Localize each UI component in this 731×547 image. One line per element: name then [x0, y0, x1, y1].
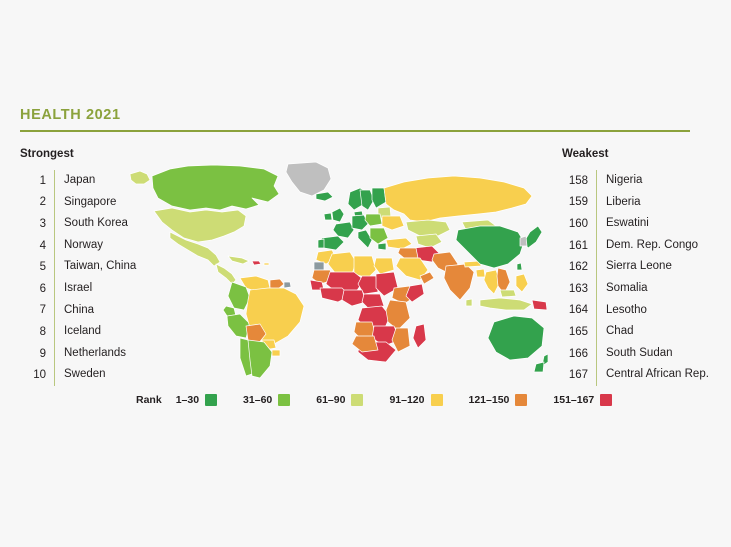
legend-item[interactable]: 121–150	[469, 394, 528, 406]
country-france	[333, 222, 354, 238]
country-namibia-botswana	[352, 336, 378, 352]
rank-number: 159	[562, 196, 596, 208]
rank-number: 10	[20, 369, 54, 381]
weakest-ranking-list: 158Nigeria159Liberia160Eswatini161Dem. R…	[562, 170, 731, 386]
country-taiwan	[517, 263, 522, 270]
country-kenya-tanzania	[386, 300, 410, 330]
rank-row: 166South Sudan	[562, 343, 731, 365]
legend-item[interactable]: 91–120	[389, 394, 442, 406]
legend-item[interactable]: 151–167	[553, 394, 612, 406]
rank-number: 3	[20, 218, 54, 230]
rank-number: 8	[20, 326, 54, 338]
legend-item-label: 121–150	[469, 394, 510, 406]
rank-number: 5	[20, 261, 54, 273]
country-turkey	[386, 238, 412, 249]
rank-number: 160	[562, 218, 596, 230]
rank-country-name: Liberia	[596, 192, 731, 214]
country-hispaniola	[252, 261, 261, 265]
country-new-zealand-south	[534, 362, 544, 372]
rank-number: 9	[20, 348, 54, 360]
country-korea	[520, 236, 527, 246]
country-uk	[332, 208, 344, 222]
rank-country-name: Central African Rep.	[596, 364, 731, 386]
rank-number: 163	[562, 283, 596, 295]
rank-row: 162Sierra Leone	[562, 256, 731, 278]
country-greenland	[286, 162, 331, 196]
rank-number: 165	[562, 326, 596, 338]
legend-color-swatch	[278, 394, 290, 406]
country-french-guiana	[284, 282, 291, 288]
country-iraq-syria	[398, 248, 418, 258]
rank-number: 166	[562, 348, 596, 360]
legend-color-swatch	[515, 394, 527, 406]
country-egypt	[374, 258, 394, 274]
country-algeria	[328, 252, 356, 274]
legend-title: Rank	[136, 394, 162, 406]
country-uruguay	[272, 350, 280, 356]
rank-row: 165Chad	[562, 321, 731, 343]
country-russia	[384, 176, 532, 222]
rank-number: 7	[20, 304, 54, 316]
legend-item-label: 61–90	[316, 394, 345, 406]
country-iceland	[316, 192, 333, 201]
country-nigeria	[342, 290, 366, 306]
country-png	[532, 300, 547, 310]
country-philippines	[516, 274, 528, 292]
rank-number: 167	[562, 369, 596, 381]
legend-color-swatch	[351, 394, 363, 406]
map-legend: Rank 1–3031–6061–9091–120121–150151–167	[136, 394, 612, 406]
rank-number: 6	[20, 283, 54, 295]
rank-country-name: Sierra Leone	[596, 256, 731, 278]
country-ukraine	[382, 216, 404, 230]
legend-color-swatch	[205, 394, 217, 406]
legend-item-label: 151–167	[553, 394, 594, 406]
rank-number: 164	[562, 304, 596, 316]
strongest-heading: Strongest	[20, 148, 74, 160]
rank-number: 1	[20, 175, 54, 187]
legend-item-label: 1–30	[176, 394, 199, 406]
country-madagascar	[413, 324, 426, 348]
rank-row: 158Nigeria	[562, 170, 731, 192]
country-malaysia	[500, 290, 516, 297]
country-australia	[488, 316, 544, 360]
page-title: HEALTH 2021	[20, 107, 121, 123]
country-alaska	[130, 171, 150, 184]
legend-item-label: 91–120	[389, 394, 424, 406]
rank-number: 162	[562, 261, 596, 273]
rank-row: 164Lesotho	[562, 300, 731, 322]
country-balkans	[370, 228, 388, 244]
country-canada	[152, 165, 279, 210]
rank-country-name: Somalia	[596, 278, 731, 300]
rank-row: 167Central African Rep.	[562, 364, 731, 386]
legend-color-swatch	[431, 394, 443, 406]
country-kazakhstan	[406, 220, 450, 236]
rank-country-name: Lesotho	[596, 300, 731, 322]
rank-country-name: Eswatini	[596, 213, 731, 235]
rank-country-name: South Sudan	[596, 343, 731, 365]
rank-country-name: Chad	[596, 321, 731, 343]
country-sri-lanka	[466, 299, 472, 306]
country-finland	[372, 188, 386, 208]
legend-color-swatch	[600, 394, 612, 406]
country-usa	[154, 208, 246, 242]
rank-row: 163Somalia	[562, 278, 731, 300]
country-cuba	[228, 256, 249, 264]
country-mozambique	[392, 328, 410, 352]
country-greece	[378, 243, 386, 250]
rank-row: 160Eswatini	[562, 213, 731, 235]
rank-row: 161Dem. Rep. Congo	[562, 235, 731, 257]
legend-item[interactable]: 61–90	[316, 394, 363, 406]
country-guyana-suriname	[270, 279, 284, 289]
country-western-sahara	[314, 262, 324, 270]
country-indonesia	[480, 298, 532, 310]
rank-country-name: Nigeria	[596, 170, 731, 192]
country-central-america	[216, 264, 236, 284]
weakest-heading: Weakest	[562, 148, 608, 160]
rank-number: 2	[20, 196, 54, 208]
country-india	[444, 264, 474, 300]
title-divider	[20, 130, 690, 132]
rank-row: 159Liberia	[562, 192, 731, 214]
rank-number: 4	[20, 240, 54, 252]
legend-item[interactable]: 31–60	[243, 394, 290, 406]
country-puerto-rico	[264, 263, 269, 265]
legend-item[interactable]: 1–30	[176, 394, 217, 406]
rank-number: 158	[562, 175, 596, 187]
world-choropleth-map	[128, 160, 548, 382]
country-bangladesh	[476, 269, 485, 277]
legend-item-label: 31–60	[243, 394, 272, 406]
country-portugal	[318, 239, 324, 248]
country-ireland	[324, 213, 332, 220]
rank-country-name: Dem. Rep. Congo	[596, 235, 731, 257]
rank-number: 161	[562, 240, 596, 252]
health-ranking-infographic: HEALTH 2021 Strongest Weakest 1Japan2Sin…	[0, 0, 731, 547]
